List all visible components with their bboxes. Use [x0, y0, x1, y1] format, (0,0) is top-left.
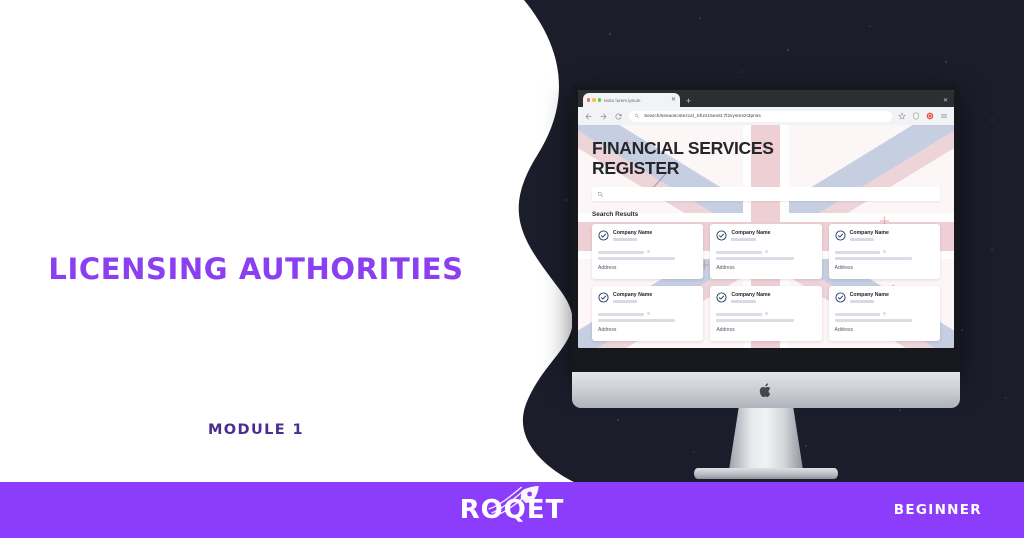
check-circle-icon — [598, 230, 609, 241]
rocket-icon — [486, 485, 542, 519]
meta-placeholder-bar — [835, 251, 881, 254]
company-subtitle-placeholder — [731, 238, 755, 241]
company-subtitle-placeholder — [613, 238, 637, 241]
traffic-light-green-icon[interactable] — [598, 98, 601, 101]
check-circle-icon — [716, 230, 727, 241]
company-meta-row — [598, 310, 697, 316]
company-name: Company Name — [850, 230, 889, 236]
address-label: Address — [835, 265, 934, 271]
left-text-column: LICENSING AUTHORITIES MODULE 1 — [0, 0, 520, 482]
meta-placeholder-bar — [598, 313, 644, 316]
result-card[interactable]: Company Name Address — [829, 224, 940, 279]
page-title: LICENSING AUTHORITIES — [0, 252, 512, 286]
traffic-light-red-icon[interactable] — [587, 98, 590, 101]
reload-icon[interactable] — [614, 112, 623, 121]
new-tab-icon[interactable]: + — [686, 97, 691, 106]
address-label: Address — [598, 265, 697, 271]
company-name: Company Name — [613, 292, 652, 298]
result-card[interactable]: Company Name Address — [829, 286, 940, 341]
company-subtitle-placeholder — [613, 300, 637, 303]
meta-placeholder-bar — [598, 251, 644, 254]
meta-dot — [883, 312, 886, 315]
monitor-chin — [572, 372, 960, 408]
meta-placeholder-bar — [716, 313, 762, 316]
traffic-light-yellow-icon[interactable] — [592, 98, 595, 101]
address-bar[interactable]: Search/sesaoscstezcsl_Shzs15eost.7l2vysm… — [629, 111, 892, 122]
slide-canvas: LICENSING AUTHORITIES MODULE 1 texto lor… — [0, 0, 1024, 538]
meta-placeholder-bar — [598, 319, 675, 322]
meta-placeholder-bar — [716, 319, 793, 322]
window-close-icon[interactable]: ✕ — [943, 98, 948, 104]
meta-placeholder-bar — [835, 313, 881, 316]
company-name: Company Name — [613, 230, 652, 236]
browser-tab[interactable]: texto lorem ipsum ✕ — [583, 93, 680, 107]
check-circle-icon — [835, 230, 846, 241]
meta-placeholder-bar — [598, 257, 675, 260]
address-label: Address — [716, 265, 815, 271]
company-name: Company Name — [850, 292, 889, 298]
meta-placeholder-bar — [716, 257, 793, 260]
company-subtitle-placeholder — [850, 238, 874, 241]
shield-icon[interactable] — [912, 112, 920, 120]
meta-dot — [647, 250, 650, 253]
search-icon — [634, 113, 640, 119]
company-meta-row — [598, 248, 697, 254]
result-card[interactable]: Company Name Address — [710, 224, 821, 279]
difficulty-level-label: BEGINNER — [894, 502, 982, 518]
meta-dot — [765, 250, 768, 253]
search-icon — [597, 191, 604, 198]
footer-bar: ROQET BEGINNER — [0, 482, 1024, 538]
arrow-back-icon[interactable] — [584, 112, 593, 121]
star-icon[interactable] — [898, 112, 906, 120]
profile-icon[interactable] — [926, 112, 934, 120]
company-meta-row — [835, 310, 934, 316]
page-heading-line-1: FINANCIAL SERVICES — [592, 139, 940, 159]
check-circle-icon — [598, 292, 609, 303]
address-label: Address — [716, 327, 815, 333]
page-heading: FINANCIAL SERVICES REGISTER — [592, 139, 940, 178]
search-results-heading: Search Results — [592, 211, 940, 218]
address-label: Address — [598, 327, 697, 333]
monitor-screen: texto lorem ipsum ✕ + ✕ — [578, 90, 954, 348]
result-card[interactable]: Company Name Address — [592, 286, 703, 341]
check-circle-icon — [835, 292, 846, 303]
browser-tab-title: texto lorem ipsum — [604, 98, 668, 103]
meta-dot — [765, 312, 768, 315]
company-meta-row — [835, 248, 934, 254]
monitor-stand-base — [694, 468, 838, 479]
traffic-lights — [587, 98, 601, 101]
arrow-forward-icon[interactable] — [599, 112, 608, 121]
check-circle-icon — [716, 292, 727, 303]
site-search-bar[interactable] — [592, 187, 940, 201]
company-meta-row — [716, 248, 815, 254]
browser-toolbar: Search/sesaoscstezcsl_Shzs15eost.7l2vysm… — [578, 107, 954, 125]
monitor-stand-neck — [729, 408, 803, 470]
hamburger-menu-icon[interactable] — [940, 112, 948, 120]
result-card[interactable]: Company Name Address — [592, 224, 703, 279]
meta-dot — [883, 250, 886, 253]
imac-computer: texto lorem ipsum ✕ + ✕ — [548, 84, 984, 464]
address-bar-text: Search/sesaoscstezcsl_Shzs15eost.7l2vysm… — [644, 114, 761, 119]
meta-dot — [647, 312, 650, 315]
meta-placeholder-bar — [835, 319, 912, 322]
monitor-bezel: texto lorem ipsum ✕ + ✕ — [572, 84, 960, 372]
brand-logo: ROQET — [460, 495, 565, 525]
tab-close-icon[interactable]: ✕ — [671, 97, 676, 103]
web-page-content: FINANCIAL SERVICES REGISTER Search Resul… — [578, 125, 954, 348]
result-card[interactable]: Company Name Address — [710, 286, 821, 341]
search-results-grid: Company Name Address — [592, 224, 940, 341]
browser-tab-strip: texto lorem ipsum ✕ + ✕ — [578, 90, 954, 107]
page-heading-line-2: REGISTER — [592, 159, 940, 179]
company-name: Company Name — [731, 230, 770, 236]
company-name: Company Name — [731, 292, 770, 298]
company-meta-row — [716, 310, 815, 316]
company-subtitle-placeholder — [731, 300, 755, 303]
company-subtitle-placeholder — [850, 300, 874, 303]
apple-logo-icon — [759, 382, 773, 399]
module-label: MODULE 1 — [0, 422, 512, 438]
meta-placeholder-bar — [716, 251, 762, 254]
meta-placeholder-bar — [835, 257, 912, 260]
address-label: Address — [835, 327, 934, 333]
